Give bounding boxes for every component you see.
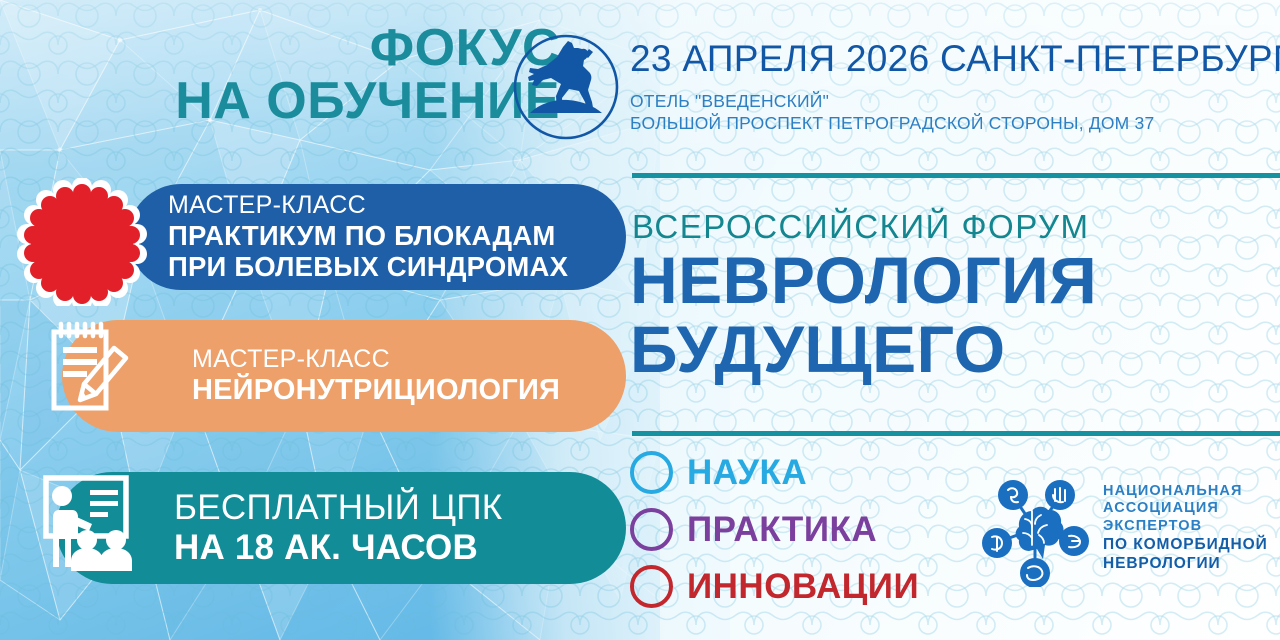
pillar-label: ИННОВАЦИИ [687, 567, 919, 607]
assoc-line-3: ЭКСПЕРТОВ [1103, 518, 1268, 536]
event-venue: ОТЕЛЬ "ВВЕДЕНСКИЙ" БОЛЬШОЙ ПРОСПЕКТ ПЕТР… [630, 90, 1260, 135]
pillar-label: ПРАКТИКА [687, 510, 877, 550]
event-banner: ФОКУС НА ОБУЧЕНИЕ 23 АПРЕЛЯ 2026 САНКТ-П… [0, 0, 1280, 640]
venue-line-1: ОТЕЛЬ "ВВЕДЕНСКИЙ" [630, 90, 1260, 112]
program-item-text: МАСТЕР-КЛАСС ПРАКТИКУМ ПО БЛОКАДАМ ПРИ Б… [168, 191, 568, 282]
program-item-text: МАСТЕР-КЛАСС НЕЙРОНУТРИЦИОЛОГИЯ [192, 345, 560, 407]
notebook-pencil-icon [40, 314, 132, 420]
association-name: НАЦИОНАЛЬНАЯ АССОЦИАЦИЯ ЭКСПЕРТОВ ПО КОМ… [1103, 483, 1268, 574]
forum-title: НЕВРОЛОГИЯ БУДУЩЕГО [630, 250, 1097, 379]
circle-outline-icon [630, 565, 673, 608]
focus-heading: ФОКУС НА ОБУЧЕНИЕ [60, 24, 560, 127]
program-item-masterclass-blockades: МАСТЕР-КЛАСС ПРАКТИКУМ ПО БЛОКАДАМ ПРИ Б… [128, 184, 626, 290]
program-item-title-line2: ПРИ БОЛЕВЫХ СИНДРОМАХ [168, 251, 568, 282]
forum-kicker: ВСЕРОССИЙСКИЙ ФОРУМ [632, 208, 1089, 246]
forum-title-line2: БУДУЩЕГО [630, 319, 1097, 380]
program-item-kicker: МАСТЕР-КЛАСС [192, 345, 560, 374]
focus-heading-line1: ФОКУС [60, 24, 560, 73]
pillar-item-science: НАУКА [630, 444, 919, 501]
program-item-title-line1: НА 18 АК. ЧАСОВ [174, 528, 502, 568]
program-item-kicker: БЕСПЛАТНЫЙ ЦПК [174, 488, 502, 528]
presenter-board-icon [34, 472, 139, 574]
event-info: 23 АПРЕЛЯ 2026 САНКТ-ПЕТЕРБУРГ ОТЕЛЬ "ВВ… [630, 40, 1260, 135]
program-item-kicker: МАСТЕР-КЛАСС [168, 191, 568, 220]
program-item-free-cpd: БЕСПЛАТНЫЙ ЦПК НА 18 АК. ЧАСОВ [56, 472, 626, 584]
program-item-title-line1: НЕЙРОНУТРИЦИОЛОГИЯ [192, 374, 560, 407]
association-logo: НАЦИОНАЛЬНАЯ АССОЦИАЦИЯ ЭКСПЕРТОВ ПО КОМ… [975, 468, 1275, 588]
program-item-masterclass-neuronutrition: МАСТЕР-КЛАСС НЕЙРОНУТРИЦИОЛОГИЯ [62, 320, 626, 432]
event-date: 23 АПРЕЛЯ 2026 САНКТ-ПЕТЕРБУРГ [630, 40, 1260, 79]
pillar-item-innovation: ИННОВАЦИИ [630, 558, 919, 615]
circle-outline-icon [630, 451, 673, 494]
circle-outline-icon [630, 508, 673, 551]
divider-top [632, 173, 1280, 178]
pillars-list: НАУКА ПРАКТИКА ИННОВАЦИИ [630, 444, 919, 615]
divider-middle [632, 431, 1280, 436]
pillar-item-practice: ПРАКТИКА [630, 501, 919, 558]
focus-heading-line2: НА ОБУЧЕНИЕ [60, 77, 560, 126]
assoc-line-4: ПО КОМОРБИДНОЙ [1103, 536, 1268, 555]
program-item-title-line1: ПРАКТИКУМ ПО БЛОКАДАМ [168, 220, 568, 251]
brain-organs-network-icon [975, 469, 1095, 587]
program-item-text: БЕСПЛАТНЫЙ ЦПК НА 18 АК. ЧАСОВ [174, 488, 502, 568]
certificate-seal-badge [8, 178, 156, 306]
assoc-line-2: АССОЦИАЦИЯ [1103, 500, 1268, 518]
assoc-line-5: НЕВРОЛОГИИ [1103, 555, 1268, 574]
pillar-label: НАУКА [687, 453, 807, 493]
forum-title-line1: НЕВРОЛОГИЯ [630, 250, 1097, 311]
assoc-line-1: НАЦИОНАЛЬНАЯ [1103, 483, 1268, 501]
bronze-horseman-emblem [512, 33, 620, 141]
venue-line-2: БОЛЬШОЙ ПРОСПЕКТ ПЕТРОГРАДСКОЙ СТОРОНЫ, … [630, 112, 1260, 134]
